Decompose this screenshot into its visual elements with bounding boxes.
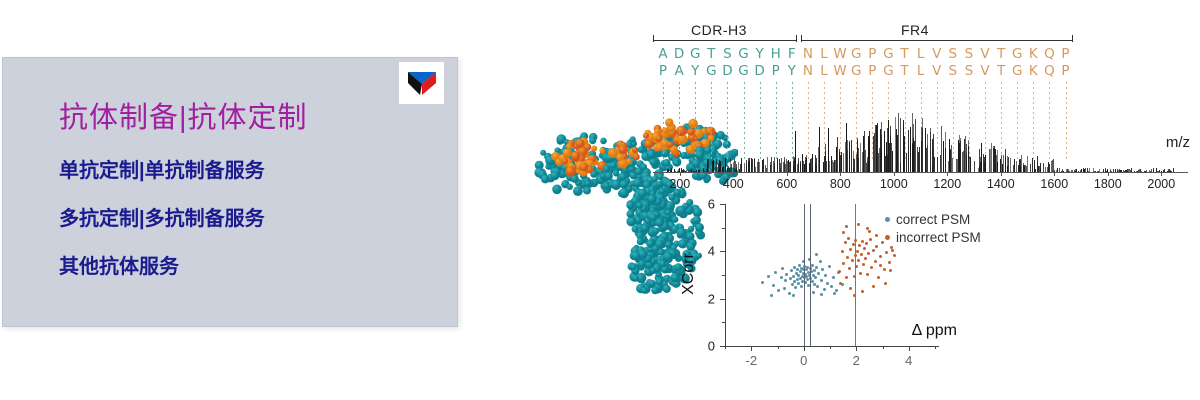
y-tick-label: 0 (708, 339, 719, 354)
scatter-point (860, 253, 863, 256)
scatter-point (864, 257, 867, 260)
residue: S (945, 63, 961, 79)
residue: V (929, 46, 945, 62)
scatter-point (772, 284, 775, 287)
residue: V (929, 63, 945, 79)
scatter-point (849, 248, 852, 251)
scatter-point (826, 282, 829, 285)
scatter-point (791, 283, 794, 286)
residue: G (1009, 63, 1025, 79)
scatter-point (885, 251, 888, 254)
scatter-point (866, 227, 869, 230)
scatter-point (877, 276, 880, 279)
scatter-point (792, 275, 795, 278)
sequence-row-1: ADGTSGYHFNLWGPGTLVSSVTGKQP (653, 46, 1188, 63)
scatter-point (788, 292, 791, 295)
residue: P (655, 63, 671, 79)
scatter-point (844, 241, 847, 244)
scatter-point (868, 230, 871, 233)
residue: W (832, 46, 848, 62)
residue: P (864, 46, 880, 62)
y-axis-title: XCorr (680, 253, 698, 295)
sequence-row-2: PAYGDGDPYNLWGPGTLVSSVTGKQP (653, 63, 1188, 80)
scatter-point (832, 276, 835, 279)
scatter-point (783, 287, 786, 290)
promo-link-other[interactable]: 其他抗体服务 (59, 257, 265, 277)
scatter-point (884, 282, 887, 285)
scatter-point (845, 225, 848, 228)
scatter-point (793, 280, 796, 283)
mz-tick-label: 1800 (1094, 177, 1122, 191)
residue: P (864, 63, 880, 79)
residue: T (703, 46, 719, 62)
residue: G (880, 46, 896, 62)
scatter-point (842, 231, 845, 234)
scatter-point (839, 282, 842, 285)
scatter-point (777, 289, 780, 292)
promo-link-pab[interactable]: 多抗定制|多抗制备服务 (59, 209, 265, 229)
scatter-point (790, 269, 793, 272)
mz-axis-title: m/z (1166, 134, 1190, 151)
residue: L (816, 46, 832, 62)
residue: Y (784, 63, 800, 79)
mz-tick-label: 1600 (1040, 177, 1068, 191)
mz-tick-label: 1200 (933, 177, 961, 191)
psm-scatter-chart: correct PSM incorrect PSM 0246-2024 XCor… (683, 196, 963, 381)
scatter-point (816, 285, 819, 288)
scatter-point (875, 245, 878, 248)
scatter-point (842, 262, 845, 265)
residue: L (913, 63, 929, 79)
company-logo-icon (399, 62, 444, 104)
scatter-point (813, 283, 816, 286)
scatter-point (870, 266, 873, 269)
scatter-point (857, 259, 860, 262)
residue: F (784, 46, 800, 62)
scatter-point (819, 260, 822, 263)
residue: N (800, 63, 816, 79)
promo-link-mab[interactable]: 单抗定制|单抗制备服务 (59, 161, 265, 181)
scatter-point (893, 254, 896, 257)
scatter-point (824, 274, 827, 277)
legend-item-correct: correct PSM (885, 212, 981, 227)
scatter-point (846, 256, 849, 259)
scatter-point (770, 294, 773, 297)
scatter-point (861, 290, 864, 293)
residue: V (977, 46, 993, 62)
legend-item-incorrect: incorrect PSM (885, 230, 981, 245)
scatter-point (811, 264, 814, 267)
mass-spectrum-plot (653, 120, 1188, 172)
scatter-point (774, 271, 777, 274)
scatter-point (830, 285, 833, 288)
region-label-cdrh3: CDR-H3 (691, 22, 747, 38)
scatter-point (800, 285, 803, 288)
scatter-point (875, 234, 878, 237)
scatter-point (821, 268, 824, 271)
scatter-point (785, 273, 788, 276)
threshold-line (855, 204, 856, 346)
scatter-point (767, 275, 770, 278)
scatter-point (833, 292, 836, 295)
residue: S (961, 46, 977, 62)
residue: N (800, 46, 816, 62)
scatter-point (857, 223, 860, 226)
promo-panel: 抗体制备|抗体定制 单抗定制|单抗制备服务 多抗定制|多抗制备服务 其他抗体服务 (2, 57, 458, 327)
scatter-point (872, 249, 875, 252)
mz-tick-label: 400 (723, 177, 744, 191)
scatter-point (847, 237, 850, 240)
scatter-point (874, 260, 877, 263)
residue: A (671, 63, 687, 79)
y-tick-label: 2 (708, 291, 719, 306)
scatter-point (794, 286, 797, 289)
scatter-point (845, 276, 848, 279)
scatter-point (891, 249, 894, 252)
scatter-point (848, 267, 851, 270)
residue: T (993, 46, 1009, 62)
scatter-point (812, 291, 815, 294)
y-axis-line (725, 204, 726, 346)
scatter-point (849, 287, 852, 290)
residue: S (945, 46, 961, 62)
mz-tick-label: 1000 (880, 177, 908, 191)
region-label-fr4: FR4 (901, 22, 929, 38)
scatter-point (828, 265, 831, 268)
scatter-point (815, 266, 818, 269)
residue: G (880, 63, 896, 79)
scatter-point (823, 288, 826, 291)
residue: T (993, 63, 1009, 79)
residue: G (848, 63, 864, 79)
scatter-point (789, 277, 792, 280)
residue: D (671, 46, 687, 62)
threshold-line (804, 204, 805, 346)
scatter-point (881, 241, 884, 244)
legend-label-correct: correct PSM (896, 212, 970, 227)
scatter-point (863, 247, 866, 250)
residue: G (736, 46, 752, 62)
scatter-point (851, 259, 854, 262)
region-spans: CDR-H3 FR4 (653, 24, 1188, 46)
scatter-point (815, 253, 818, 256)
scatter-point (872, 285, 875, 288)
chart-legend: correct PSM incorrect PSM (885, 212, 981, 248)
residue: P (1058, 63, 1074, 79)
mz-tick-label: 800 (830, 177, 851, 191)
y-tick-label: 6 (708, 197, 719, 212)
promo-service-list: 单抗定制|单抗制备服务 多抗定制|多抗制备服务 其他抗体服务 (59, 161, 265, 305)
scatter-point (862, 263, 865, 266)
residue: G (736, 63, 752, 79)
scatter-point (820, 279, 823, 282)
residue: G (703, 63, 719, 79)
scatter-point (861, 240, 864, 243)
scatter-point (859, 272, 862, 275)
residue: T (897, 63, 913, 79)
scatter-point (867, 252, 870, 255)
x-tick-label: 4 (905, 353, 912, 368)
mz-tick-label: 1400 (987, 177, 1015, 191)
scatter-plot-area: correct PSM incorrect PSM (725, 204, 935, 346)
legend-dot-correct (885, 217, 890, 222)
residue: K (1025, 63, 1041, 79)
scatter-point (865, 242, 868, 245)
mz-tick-label: 2000 (1147, 177, 1175, 191)
sequence-spectrum-block: CDR-H3 FR4 ADGTSGYHFNLWGPGTLVSSVTGKQP PA… (653, 24, 1188, 194)
legend-label-incorrect: incorrect PSM (896, 230, 981, 245)
residue: G (687, 46, 703, 62)
residue: D (719, 63, 735, 79)
mz-tick-label: 200 (669, 177, 690, 191)
residue: S (719, 46, 735, 62)
logo-chevron-icon (405, 68, 439, 98)
scatter-point (883, 268, 886, 271)
scatter-point (869, 238, 872, 241)
scatter-point (879, 264, 882, 267)
science-figure: CDR-H3 FR4 ADGTSGYHFNLWGPGTLVSSVTGKQP PA… (520, 0, 1200, 400)
scatter-point (761, 281, 764, 284)
residue: V (977, 63, 993, 79)
x-tick-label: -2 (746, 353, 758, 368)
scatter-point (879, 255, 882, 258)
residue: Q (1041, 46, 1057, 62)
residue: T (897, 46, 913, 62)
residue: K (1025, 46, 1041, 62)
scatter-point (838, 270, 841, 273)
scatter-point (814, 276, 817, 279)
y-tick-label: 4 (708, 244, 719, 259)
x-axis-title: Δ ppm (912, 322, 957, 340)
residue: D (752, 63, 768, 79)
x-axis-line (725, 346, 939, 347)
residue: Q (1041, 63, 1057, 79)
residue: P (1058, 46, 1074, 62)
scatter-point (889, 269, 892, 272)
page-title: 抗体制备|抗体定制 (59, 104, 308, 133)
residue: Y (752, 46, 768, 62)
scatter-point (781, 267, 784, 270)
residue: A (655, 46, 671, 62)
residue: G (1009, 46, 1025, 62)
scatter-point (820, 293, 823, 296)
residue: G (848, 46, 864, 62)
threshold-line (810, 204, 811, 346)
residue: S (961, 63, 977, 79)
residue: L (913, 46, 929, 62)
scatter-point (888, 261, 891, 264)
scatter-point (813, 269, 816, 272)
residue: W (832, 63, 848, 79)
scatter-point (780, 276, 783, 279)
scatter-point (856, 250, 859, 253)
residue: L (816, 63, 832, 79)
scatter-point (817, 272, 820, 275)
scatter-point (792, 294, 795, 297)
x-tick-label: 2 (853, 353, 860, 368)
residue: H (768, 46, 784, 62)
x-tick-label: 0 (800, 353, 807, 368)
residue: P (768, 63, 784, 79)
scatter-point (866, 273, 869, 276)
scatter-point (841, 250, 844, 253)
mz-tick-label: 600 (776, 177, 797, 191)
legend-dot-incorrect (885, 235, 890, 240)
scatter-point (858, 244, 861, 247)
residue: Y (687, 63, 703, 79)
scatter-point (784, 279, 787, 282)
